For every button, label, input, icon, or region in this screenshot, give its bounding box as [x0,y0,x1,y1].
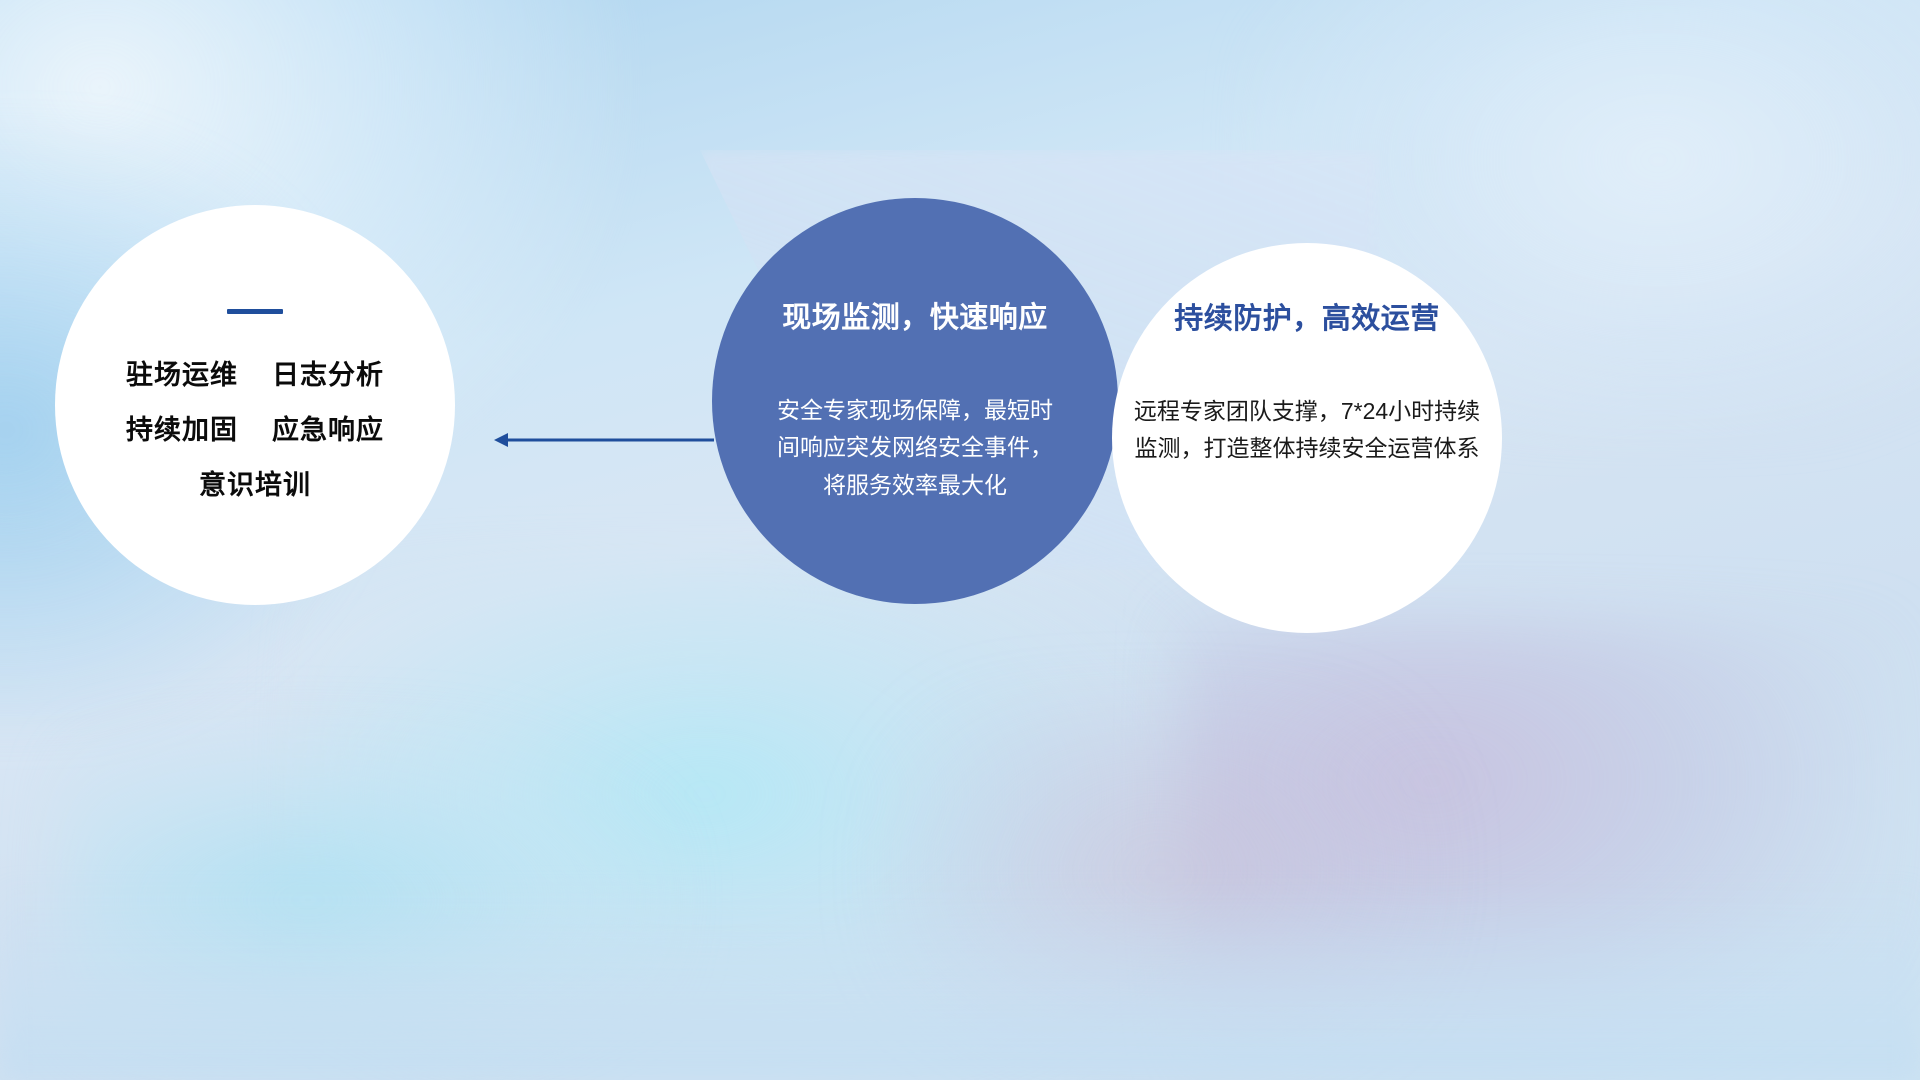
continuous-protection-body: 远程专家团队支撑，7*24小时持续监测，打造整体持续安全运营体系 [1131,393,1483,468]
onsite-monitoring-body: 安全专家现场保障，最短时间响应突发网络安全事件，将服务效率最大化 [774,392,1056,504]
capability-line-3: 意识培训 [199,472,311,499]
left-pointing-arrow [492,424,714,456]
background-glow-bottom [0,880,1920,1080]
onsite-monitoring-content: 现场监测，快速响应 安全专家现场保障，最短时间响应突发网络安全事件，将服务效率最… [712,198,1118,604]
slide-canvas: 驻场运维 日志分析 持续加固 应急响应 意识培训 现场监测，快速响应 安全专家现… [0,0,1920,1080]
capability-line-1: 驻场运维 日志分析 [126,362,384,389]
continuous-protection-content: 持续防护，高效运营 远程专家团队支撑，7*24小时持续监测，打造整体持续安全运营… [1112,243,1502,633]
divider-dash [227,309,283,314]
continuous-protection-title: 持续防护，高效运营 [1174,295,1440,337]
capability-line-2: 持续加固 应急响应 [126,417,384,444]
service-capabilities-content: 驻场运维 日志分析 持续加固 应急响应 意识培训 [55,205,455,605]
onsite-monitoring-title: 现场监测，快速响应 [782,294,1048,336]
